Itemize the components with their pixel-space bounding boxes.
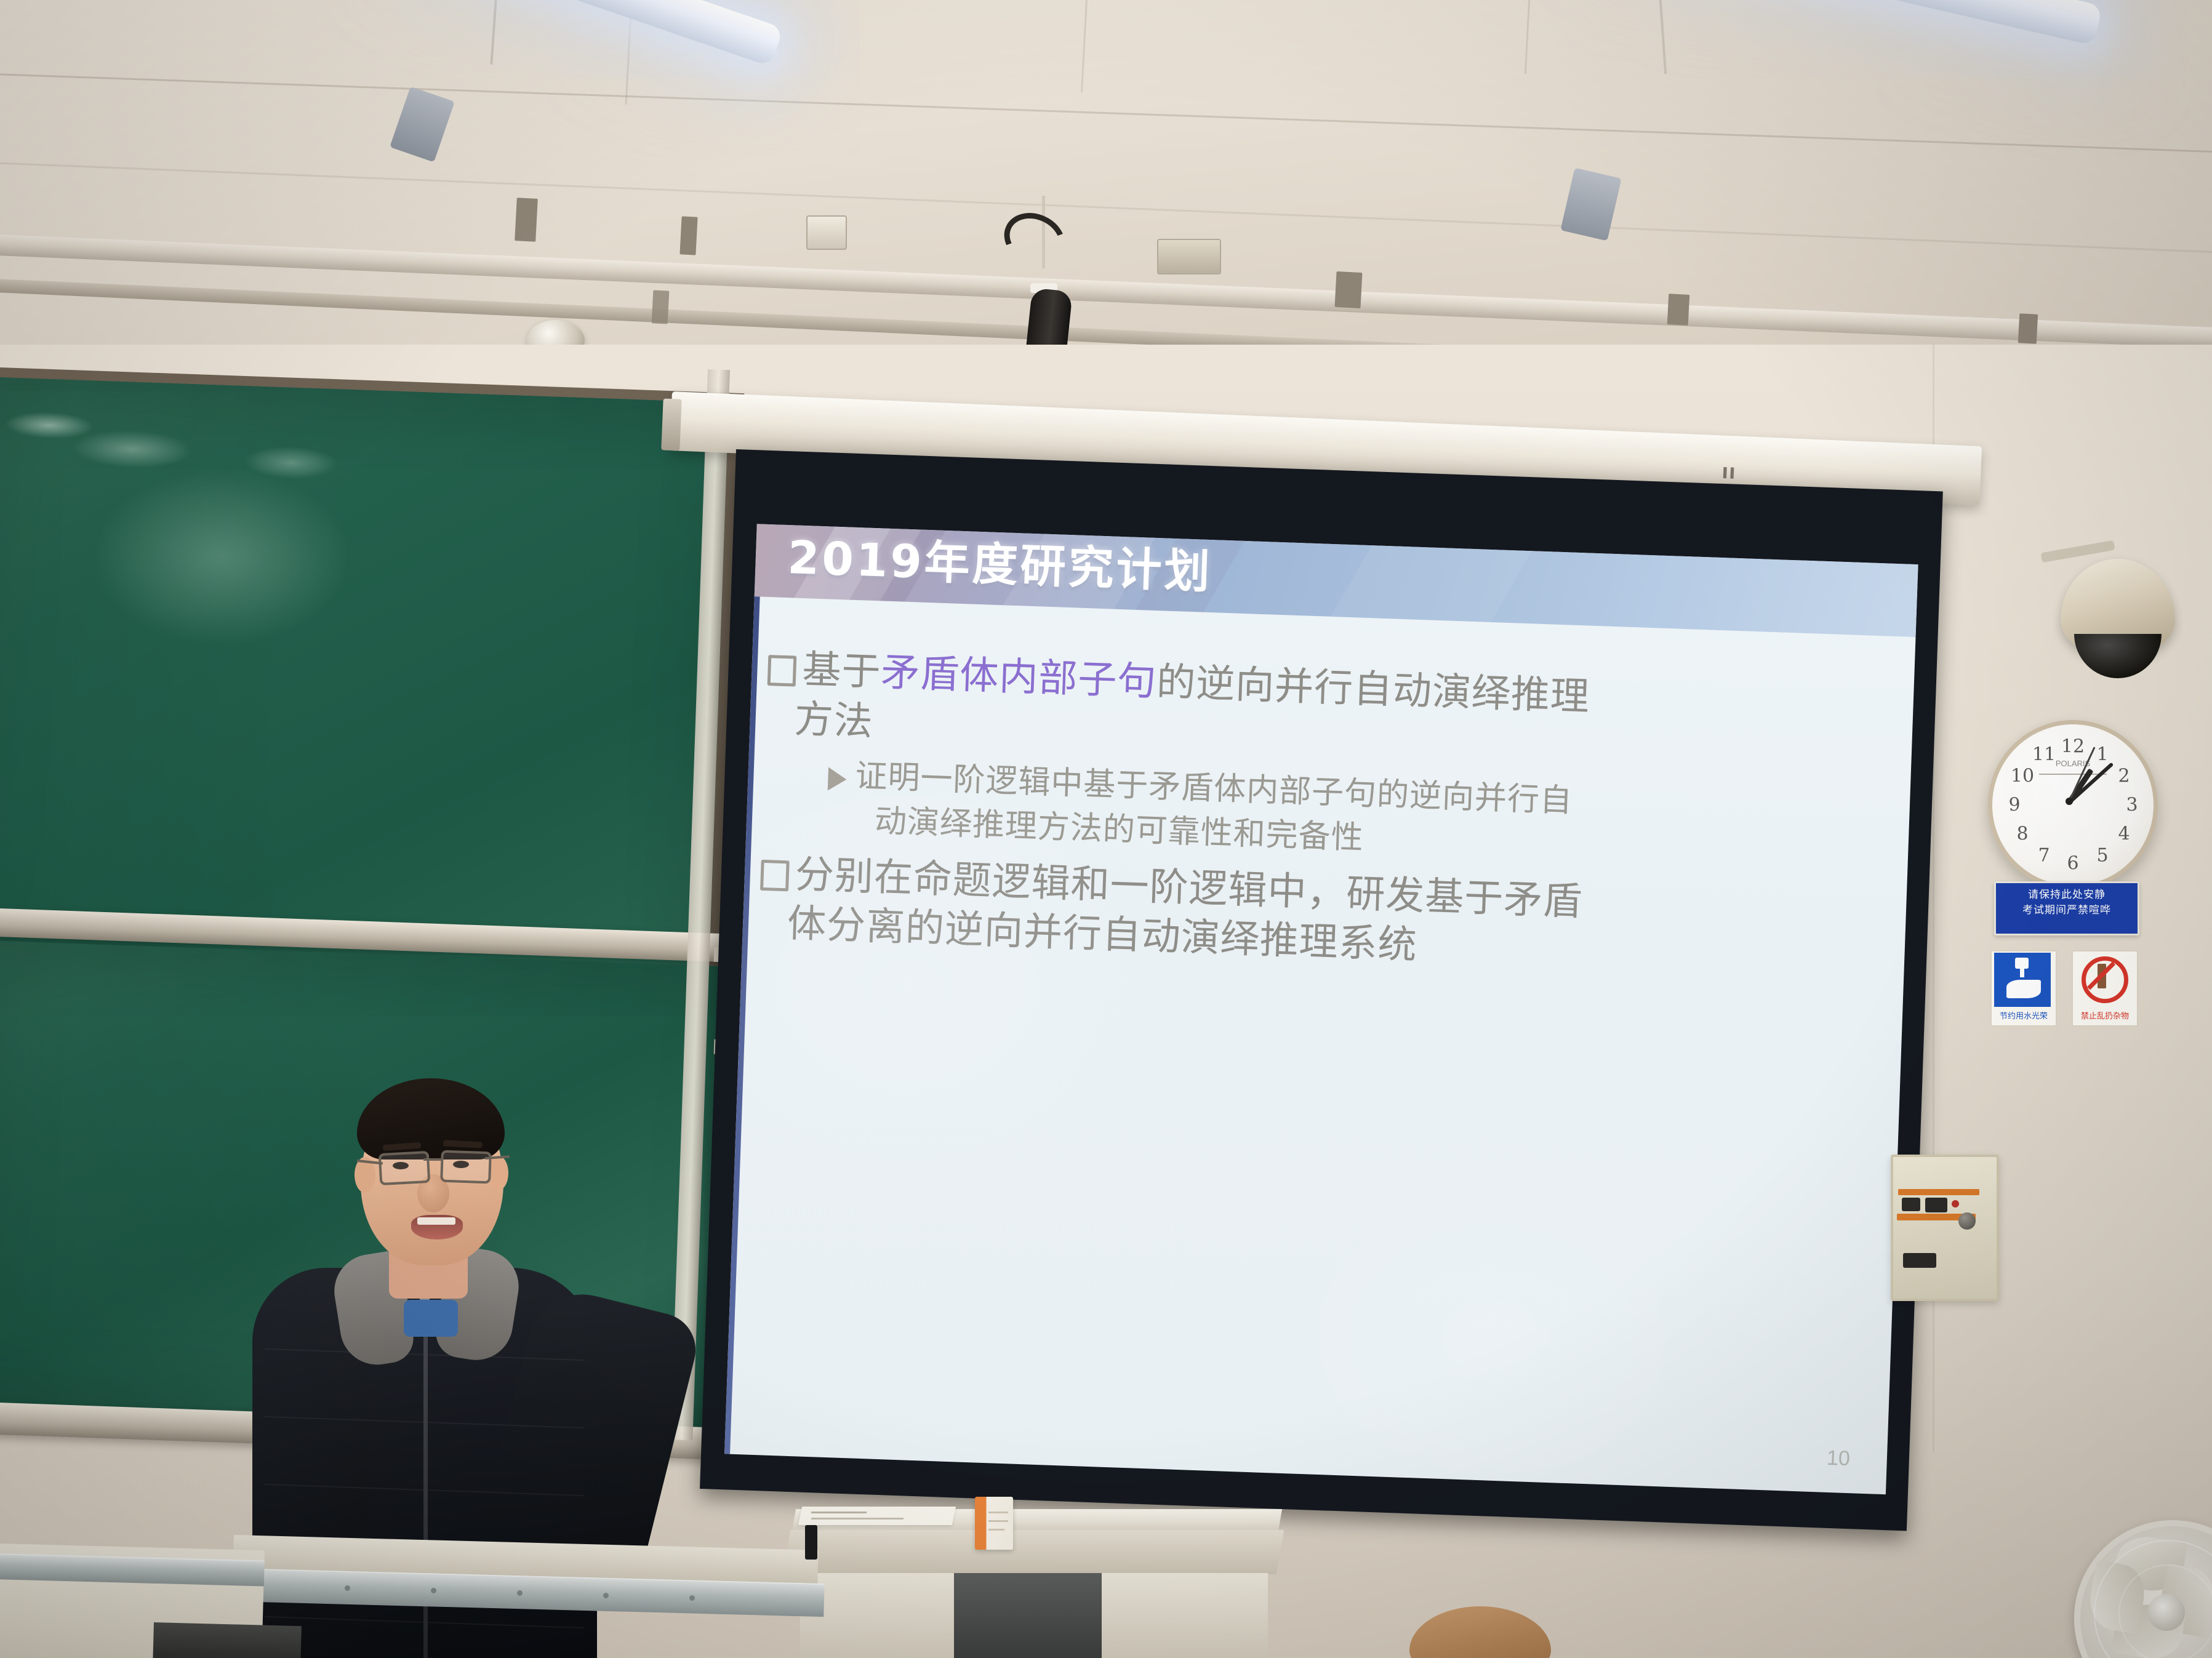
water-hand-icon: [2006, 980, 2041, 998]
chalk-box-label-line: [988, 1529, 1004, 1531]
paper-text-line: [811, 1512, 867, 1513]
square-bullet-icon: [760, 860, 790, 892]
sign-line-1: 请保持此处安静: [1998, 887, 2135, 903]
faucet-spout: [2020, 967, 2024, 977]
bullet-segment: 基于: [801, 647, 881, 694]
chalk-box[interactable]: [975, 1497, 1013, 1550]
rail-hole: [345, 1585, 350, 1591]
quiet-zone-sign: 请保持此处安静 考试期间严禁喧哗: [1994, 881, 2139, 935]
panel-socket[interactable]: [1903, 1253, 1936, 1268]
clock-numeral: 2: [2118, 766, 2130, 787]
presentation-slide: 2019年度研究计划 基于矛盾体内部子句的逆向并行自动演绎推理 方法 证明一阶逻…: [724, 524, 1918, 1494]
clock-numeral: 10: [2011, 766, 2034, 787]
rail-clip: [679, 216, 697, 255]
bullet-segment-highlight: 矛盾体内部子句: [880, 649, 1157, 704]
fan-hub: [2148, 1594, 2185, 1631]
clock-numeral: 9: [2008, 795, 2020, 816]
clock-numeral: 12: [2061, 736, 2085, 758]
no-smoking-sign: 禁止乱扔杂物: [2072, 950, 2138, 1027]
save-water-pictogram: [1994, 953, 2051, 1007]
paper-sheet: [798, 1507, 956, 1525]
clock-numeral: 7: [2038, 845, 2050, 867]
chalk-box-label-line: [988, 1520, 1008, 1522]
arrow-bullet-icon: [828, 767, 847, 791]
no-smoking-caption: 禁止乱扔杂物: [2073, 1009, 2137, 1021]
slide-title-band: 2019年度研究计划: [755, 524, 1918, 637]
rail-clip: [1335, 271, 1363, 308]
panel-switch-on[interactable]: [1902, 1198, 1920, 1211]
clock-numeral: 1: [2096, 744, 2108, 766]
nose: [417, 1174, 449, 1212]
save-water-caption: 节约用水光荣: [1992, 1009, 2056, 1021]
clock-numeral: 8: [2016, 823, 2028, 845]
save-water-sign: 节约用水光荣: [1990, 950, 2057, 1027]
square-bullet-icon: [767, 655, 797, 687]
right-ear: [489, 1156, 508, 1190]
projection-screen[interactable]: 2019年度研究计划 基于矛盾体内部子句的逆向并行自动演绎推理 方法 证明一阶逻…: [700, 449, 1943, 1531]
rail-clip: [515, 198, 538, 242]
chalk-box-label-line: [988, 1512, 1008, 1513]
housing-brand-label: ▌▌: [1723, 468, 1738, 479]
eyeglasses-right-lens: [440, 1150, 492, 1184]
eyeglasses-bridge: [423, 1158, 442, 1161]
projector-glare: [1252, 1145, 1732, 1495]
rail-clip: [1667, 294, 1690, 326]
housing-end-cap: [661, 398, 681, 451]
rail-hole: [689, 1595, 695, 1601]
lectern-desk-edge: [783, 1530, 1284, 1574]
slide-title: 2019年度研究计划: [787, 535, 1213, 595]
hair: [357, 1078, 505, 1159]
sub-bullet-text: 证明一阶逻辑中基于矛盾体内部子句的逆向并行自 动演绎推理方法的可靠性和完备性: [853, 755, 1573, 868]
sign-line-2: 考试期间严禁喧哗: [1998, 903, 2135, 918]
clock-numeral: 11: [2032, 744, 2056, 766]
electrical-control-panel[interactable]: [1891, 1155, 1999, 1301]
rail-clip: [2018, 313, 2038, 344]
slide-page-number: 10: [1826, 1446, 1850, 1471]
panel-switch-off[interactable]: [1925, 1198, 1947, 1212]
rail-hole: [431, 1588, 436, 1593]
rail-hole: [517, 1590, 523, 1596]
rail-hole: [603, 1593, 609, 1598]
clock-numeral: 3: [2126, 795, 2138, 816]
panel-indicator-light: [1952, 1200, 1959, 1207]
rail-clip: [652, 290, 670, 324]
panel-knob[interactable]: [1958, 1212, 1976, 1230]
inner-shirt: [404, 1300, 458, 1337]
ceiling-speaker-box: [1157, 239, 1221, 274]
clock-numeral: 6: [2067, 853, 2078, 875]
teeth: [417, 1217, 455, 1225]
stylus-pen: [805, 1525, 817, 1560]
panel-label-strip: [1898, 1189, 1979, 1195]
board-glare: [92, 468, 351, 646]
band-decoration: [1305, 524, 1545, 637]
classroom-photo: ▌▌ 2019年度研究计划 基于矛盾体内部子句的逆向并行自动演绎推理 方法: [0, 0, 2212, 1658]
cabinet-label-plate: [153, 1622, 301, 1658]
ceiling-junction-box: [806, 215, 847, 250]
slide-body: 基于矛盾体内部子句的逆向并行自动演绎推理 方法 证明一阶逻辑中基于矛盾体内部子句…: [758, 628, 1896, 987]
clock-center-pin: [2066, 798, 2073, 805]
lectern-recess: [954, 1573, 1102, 1658]
paper-text-line: [811, 1518, 904, 1520]
clock-numeral: 5: [2096, 845, 2108, 867]
analog-wall-clock: POLARIS 12 1 2 3 4 5 6 7 8 9 10 11: [1988, 720, 2158, 890]
clock-minute-hand: [2067, 763, 2114, 805]
clock-numeral: 4: [2118, 823, 2130, 845]
